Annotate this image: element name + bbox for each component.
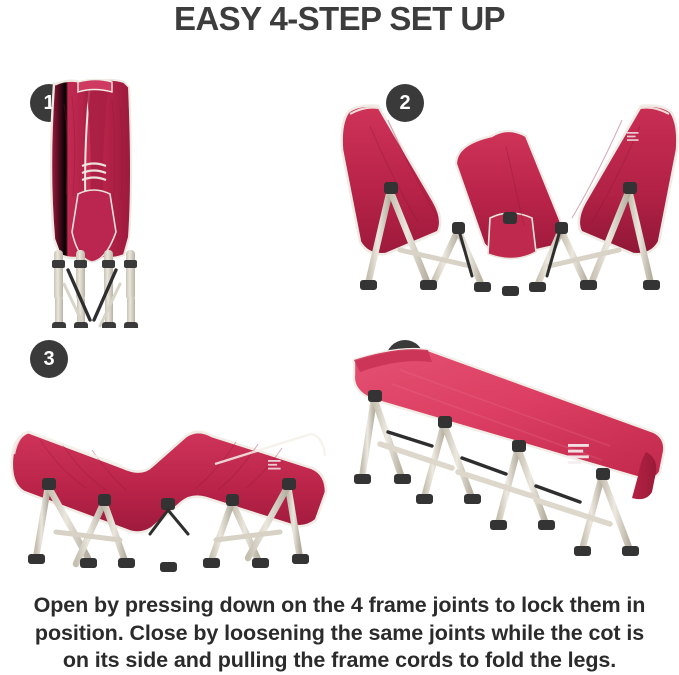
nearly-flat-cot-image <box>0 328 339 586</box>
step-panel-1: 1 <box>0 70 339 328</box>
step-panel-4: 4 <box>340 328 679 586</box>
caption-line-1: Open by pressing down on the 4 frame joi… <box>4 592 675 620</box>
step-grid: 1 <box>0 70 679 585</box>
step-panel-2: 2 <box>340 70 679 328</box>
caption-line-3: on its side and pulling the frame cords … <box>4 647 675 675</box>
instruction-caption: Open by pressing down on the 4 frame joi… <box>4 592 675 675</box>
partially-opened-cot-image <box>340 70 679 328</box>
page-title: EASY 4-STEP SET UP <box>0 0 679 38</box>
folded-cot-image <box>0 70 339 328</box>
assembled-flat-cot-image <box>340 328 679 586</box>
caption-line-2: position. Close by loosening the same jo… <box>4 620 675 648</box>
step-panel-3: 3 <box>0 328 339 586</box>
